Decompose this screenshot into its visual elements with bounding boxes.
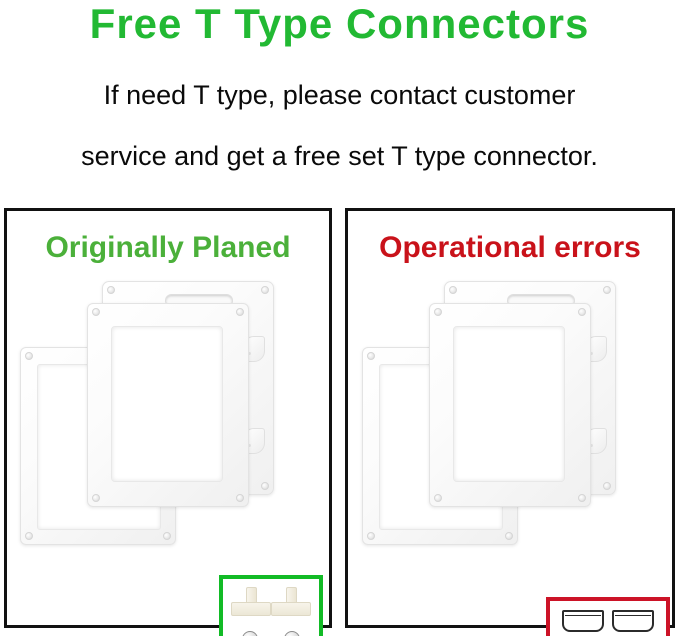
- straight-cap-icon: [612, 610, 654, 632]
- screw-icon: [578, 308, 586, 316]
- panel-originally-planed: Originally Planed: [4, 208, 332, 628]
- header-block: Free T Type Connectors If need T type, p…: [0, 0, 679, 190]
- panel-title-operational-errors: Operational errors: [348, 230, 672, 266]
- middle-frame: [429, 303, 591, 507]
- comparison-panels: Originally Planed: [0, 208, 679, 632]
- panel-operational-errors: Operational errors: [345, 208, 675, 628]
- t-bracket-icon: [229, 631, 271, 636]
- screw-icon: [367, 532, 375, 540]
- middle-frame-aperture: [453, 326, 565, 482]
- panel-title-originally-planed: Originally Planed: [7, 230, 329, 266]
- middle-frame: [87, 303, 249, 507]
- t-bracket-icon: [271, 631, 313, 636]
- page-title: Free T Type Connectors: [0, 0, 679, 50]
- t-cap-bar: [231, 602, 271, 616]
- screw-icon: [236, 308, 244, 316]
- straight-connector-inset: [546, 597, 670, 636]
- screw-icon: [603, 482, 611, 490]
- screw-icon: [261, 286, 269, 294]
- t-cap-bar: [271, 602, 311, 616]
- infographic-page: Free T Type Connectors If need T type, p…: [0, 0, 679, 636]
- screw-icon: [92, 308, 100, 316]
- screw-icon: [163, 532, 171, 540]
- subtitle-line-2: service and get a free set T type connec…: [0, 139, 679, 173]
- t-connector-grid: [223, 579, 319, 636]
- screw-icon: [261, 482, 269, 490]
- product-photo-left: [7, 279, 329, 629]
- straight-connector-grid: [550, 601, 666, 636]
- middle-frame-aperture: [111, 326, 223, 482]
- t-bracket-knob: [284, 631, 300, 636]
- t-type-connector-inset: [219, 575, 323, 636]
- screw-icon: [92, 494, 100, 502]
- screw-icon: [505, 532, 513, 540]
- screw-icon: [434, 308, 442, 316]
- screw-icon: [236, 494, 244, 502]
- frame-stage: [18, 279, 318, 619]
- subtitle-line-1: If need T type, please contact customer: [0, 78, 679, 112]
- product-photo-right: [348, 279, 672, 629]
- screw-icon: [107, 286, 115, 294]
- screw-icon: [25, 532, 33, 540]
- t-cap-icon: [231, 587, 271, 617]
- screw-icon: [603, 286, 611, 294]
- frame-stage: [360, 279, 660, 619]
- straight-cap-icon: [562, 610, 604, 632]
- screw-icon: [578, 494, 586, 502]
- screw-icon: [367, 352, 375, 360]
- screw-icon: [449, 286, 457, 294]
- t-bracket-knob: [242, 631, 258, 636]
- screw-icon: [434, 494, 442, 502]
- screw-icon: [25, 352, 33, 360]
- t-cap-icon: [271, 587, 311, 617]
